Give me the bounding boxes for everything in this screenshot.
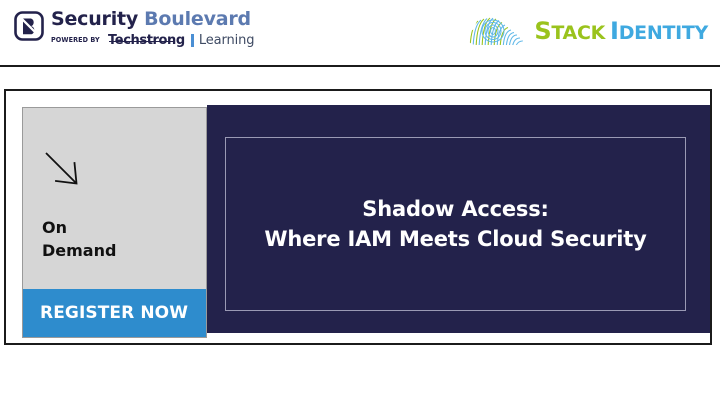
word-security: Security — [51, 10, 138, 29]
cloud-fingerprint-icon — [464, 9, 526, 53]
promo-card: On Demand REGISTER NOW — [22, 107, 207, 338]
stack-remainder: TACK — [551, 22, 605, 44]
stack-identity-wordmark: STACKIDENTITY — [534, 19, 708, 43]
security-boulevard-tagline: POWERED BY Techstrong Learning — [51, 34, 254, 47]
banner-navy-panel: Shadow Access: Where IAM Meets Cloud Sec… — [207, 105, 710, 333]
identity-remainder: DENTITY — [619, 22, 708, 44]
techstrong-brand: Techstrong — [108, 34, 185, 47]
identity-initial: I — [610, 17, 619, 45]
banner-title-box: Shadow Access: Where IAM Meets Cloud Sec… — [225, 137, 686, 311]
stack-identity-logo[interactable]: STACKIDENTITY — [464, 9, 708, 53]
security-boulevard-title: Security Boulevard — [51, 10, 254, 29]
availability-line-1: On — [42, 216, 116, 239]
banner-title-line-1: Shadow Access: — [362, 194, 548, 224]
security-boulevard-logo[interactable]: Security Boulevard POWERED BY Techstrong… — [14, 10, 254, 47]
availability-label: On Demand — [42, 216, 116, 262]
arrow-down-right-icon — [43, 150, 85, 192]
word-boulevard: Boulevard — [144, 10, 251, 29]
site-header: Security Boulevard POWERED BY Techstrong… — [0, 0, 720, 66]
word-stack: STACK — [534, 24, 605, 43]
register-now-label: REGISTER NOW — [40, 303, 188, 323]
webinar-promo-banner: Shadow Access: Where IAM Meets Cloud Sec… — [4, 89, 712, 345]
register-now-button[interactable]: REGISTER NOW — [23, 289, 206, 337]
stack-initial: S — [534, 17, 551, 45]
security-boulevard-wordmark: Security Boulevard POWERED BY Techstrong… — [51, 10, 254, 47]
header-divider-rule — [0, 65, 720, 67]
powered-by-label: POWERED BY — [51, 37, 100, 44]
banner-title-line-2: Where IAM Meets Cloud Security — [264, 224, 646, 254]
security-boulevard-b-mark-icon — [14, 11, 44, 41]
availability-line-2: Demand — [42, 239, 116, 262]
promo-card-body: On Demand — [23, 108, 206, 289]
learning-sub-brand: Learning — [199, 34, 255, 47]
word-identity: IDENTITY — [610, 24, 708, 43]
brand-divider-bar — [191, 34, 194, 47]
